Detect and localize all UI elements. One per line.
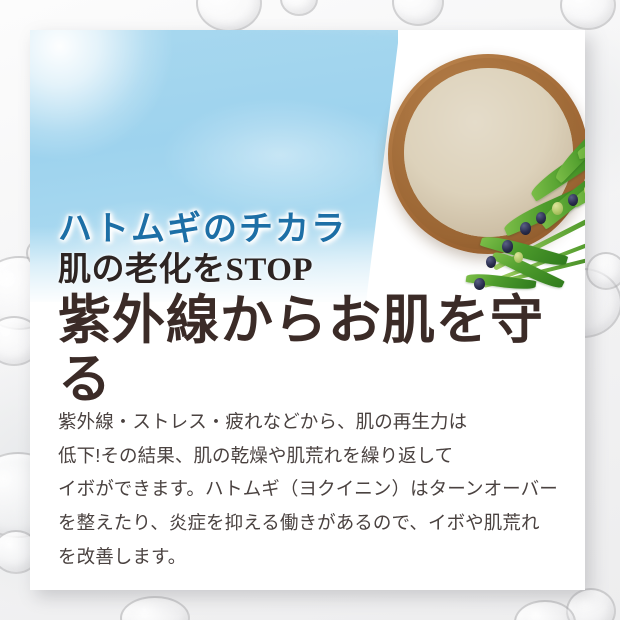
body-line: 紫外線・ストレス・疲れなどから、肌の再生力は (58, 405, 573, 439)
headline-group: ハトムギのチカラ 肌の老化をSTOP 紫外線からお肌を守る (58, 210, 578, 411)
plant-seed (568, 194, 578, 206)
headline-primary: 紫外線からお肌を守る (58, 292, 578, 411)
content-card: ハトムギのチカラ 肌の老化をSTOP 紫外線からお肌を守る 紫外線・ストレス・疲… (30, 30, 585, 590)
body-line: を整えたり、炎症を抑える働きがあるので、イボや肌荒れ (58, 506, 573, 540)
headline-blue: ハトムギのチカラ (58, 210, 578, 249)
body-line: イボができます。ハトムギ（ヨクイニン）はターンオーバー (58, 472, 573, 506)
body-line: を改善します。 (58, 540, 573, 574)
water-droplet-icon (586, 252, 620, 290)
body-line: 低下!その結果、肌の乾燥や肌荒れを繰り返して (58, 439, 573, 473)
body-copy: 紫外線・ストレス・疲れなどから、肌の再生力は 低下!その結果、肌の乾燥や肌荒れを… (58, 405, 573, 573)
headline-dark: 肌の老化をSTOP (58, 251, 578, 290)
product-banner: ハトムギのチカラ 肌の老化をSTOP 紫外線からお肌を守る 紫外線・ストレス・疲… (0, 0, 620, 620)
